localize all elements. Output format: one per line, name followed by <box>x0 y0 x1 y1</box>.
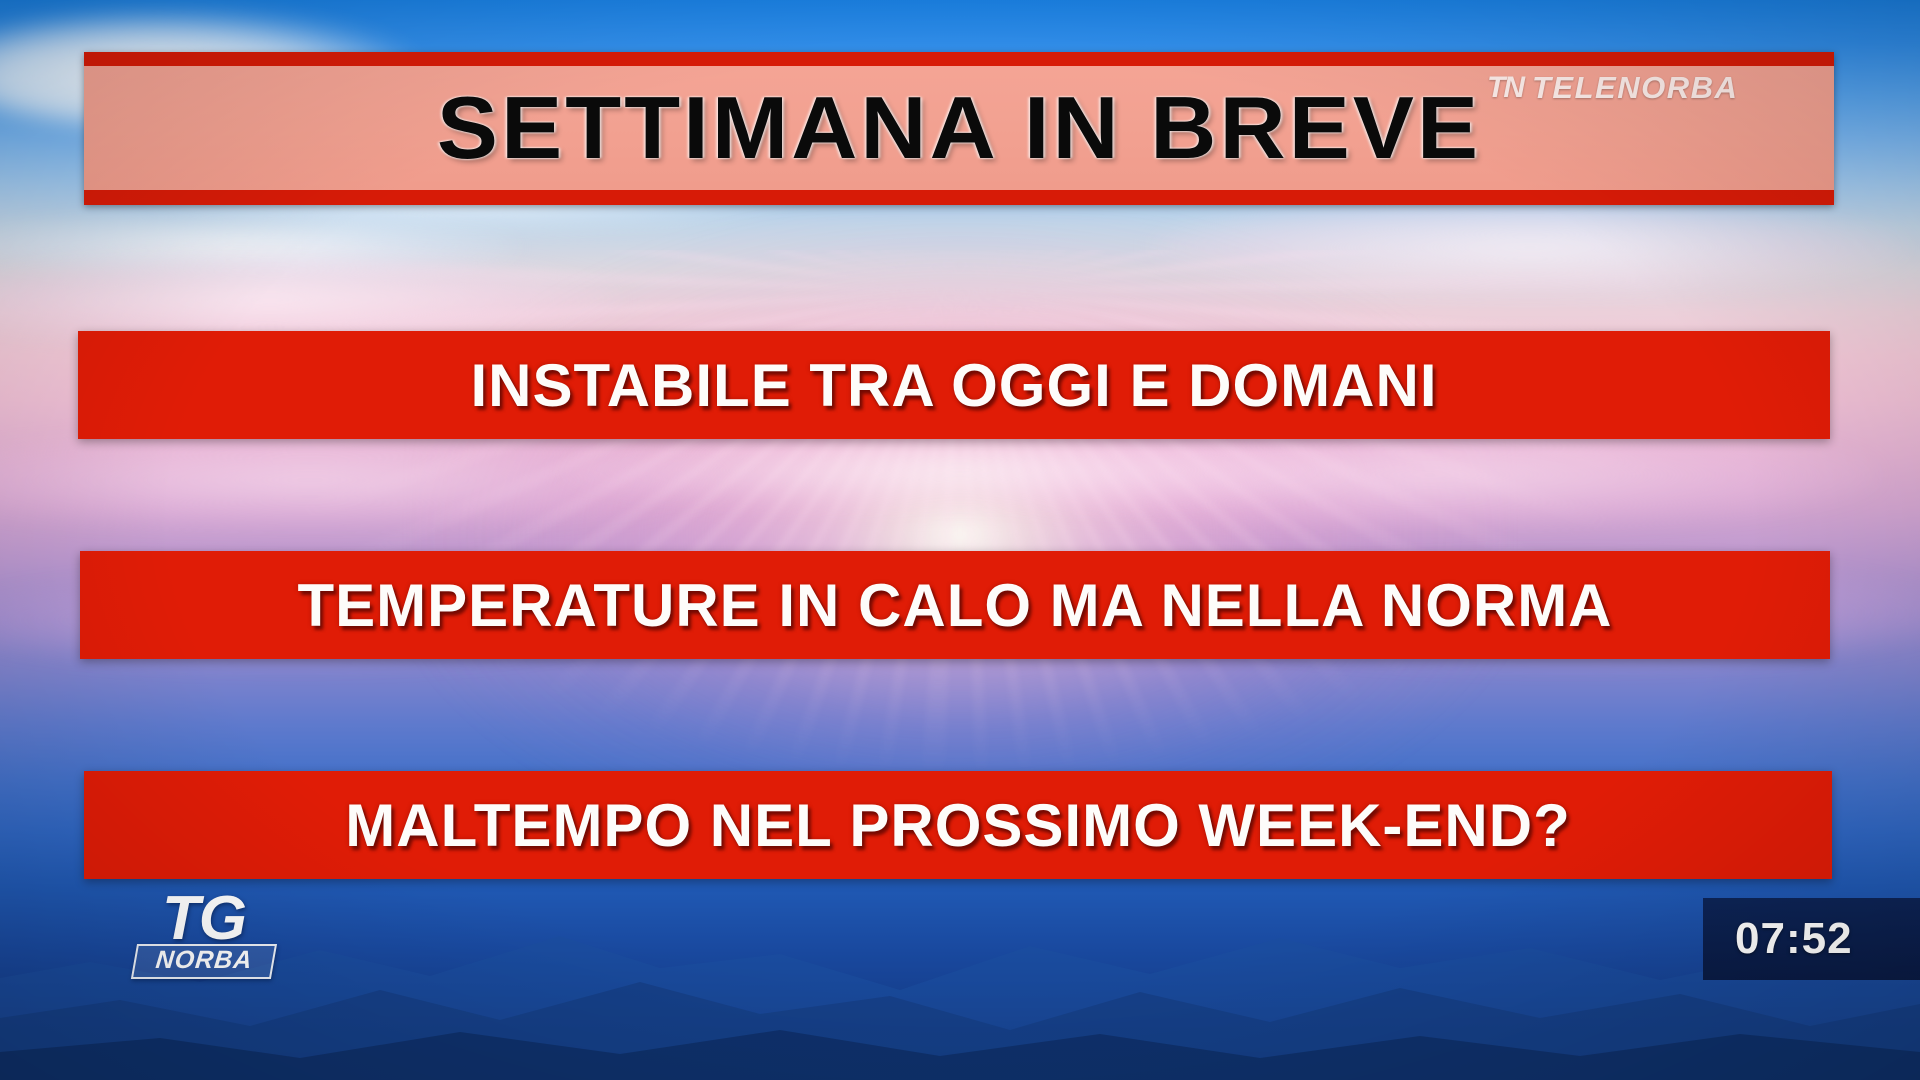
telenorba-monogram-icon: TN <box>1487 73 1523 103</box>
broadcast-screen: SETTIMANA IN BREVE TN TELENORBA INSTABIL… <box>0 0 1920 1080</box>
telenorba-wordmark: TELENORBA <box>1532 72 1738 103</box>
clock-time: 07:52 <box>1735 914 1853 964</box>
page-title: SETTIMANA IN BREVE <box>437 77 1481 179</box>
headline-banner: INSTABILE TRA OGGI E DOMANI <box>78 331 1830 439</box>
tg-norba-logo: TG NORBA <box>134 890 274 988</box>
headline-text: TEMPERATURE IN CALO MA NELLA NORMA <box>297 571 1612 640</box>
sun-rays <box>210 250 1710 770</box>
headline-banner: TEMPERATURE IN CALO MA NELLA NORMA <box>80 551 1830 659</box>
headline-text: MALTEMPO NEL PROSSIMO WEEK-END? <box>345 791 1570 860</box>
headline-banner: MALTEMPO NEL PROSSIMO WEEK-END? <box>84 771 1832 879</box>
tg-logo-primary: TG <box>134 890 274 947</box>
headline-text: INSTABILE TRA OGGI E DOMANI <box>471 351 1438 420</box>
tg-logo-secondary: NORBA <box>143 947 266 975</box>
tg-logo-secondary-box: NORBA <box>131 944 277 979</box>
clock-panel: 07:52 <box>1703 898 1920 980</box>
channel-watermark: TN TELENORBA <box>1487 72 1738 103</box>
